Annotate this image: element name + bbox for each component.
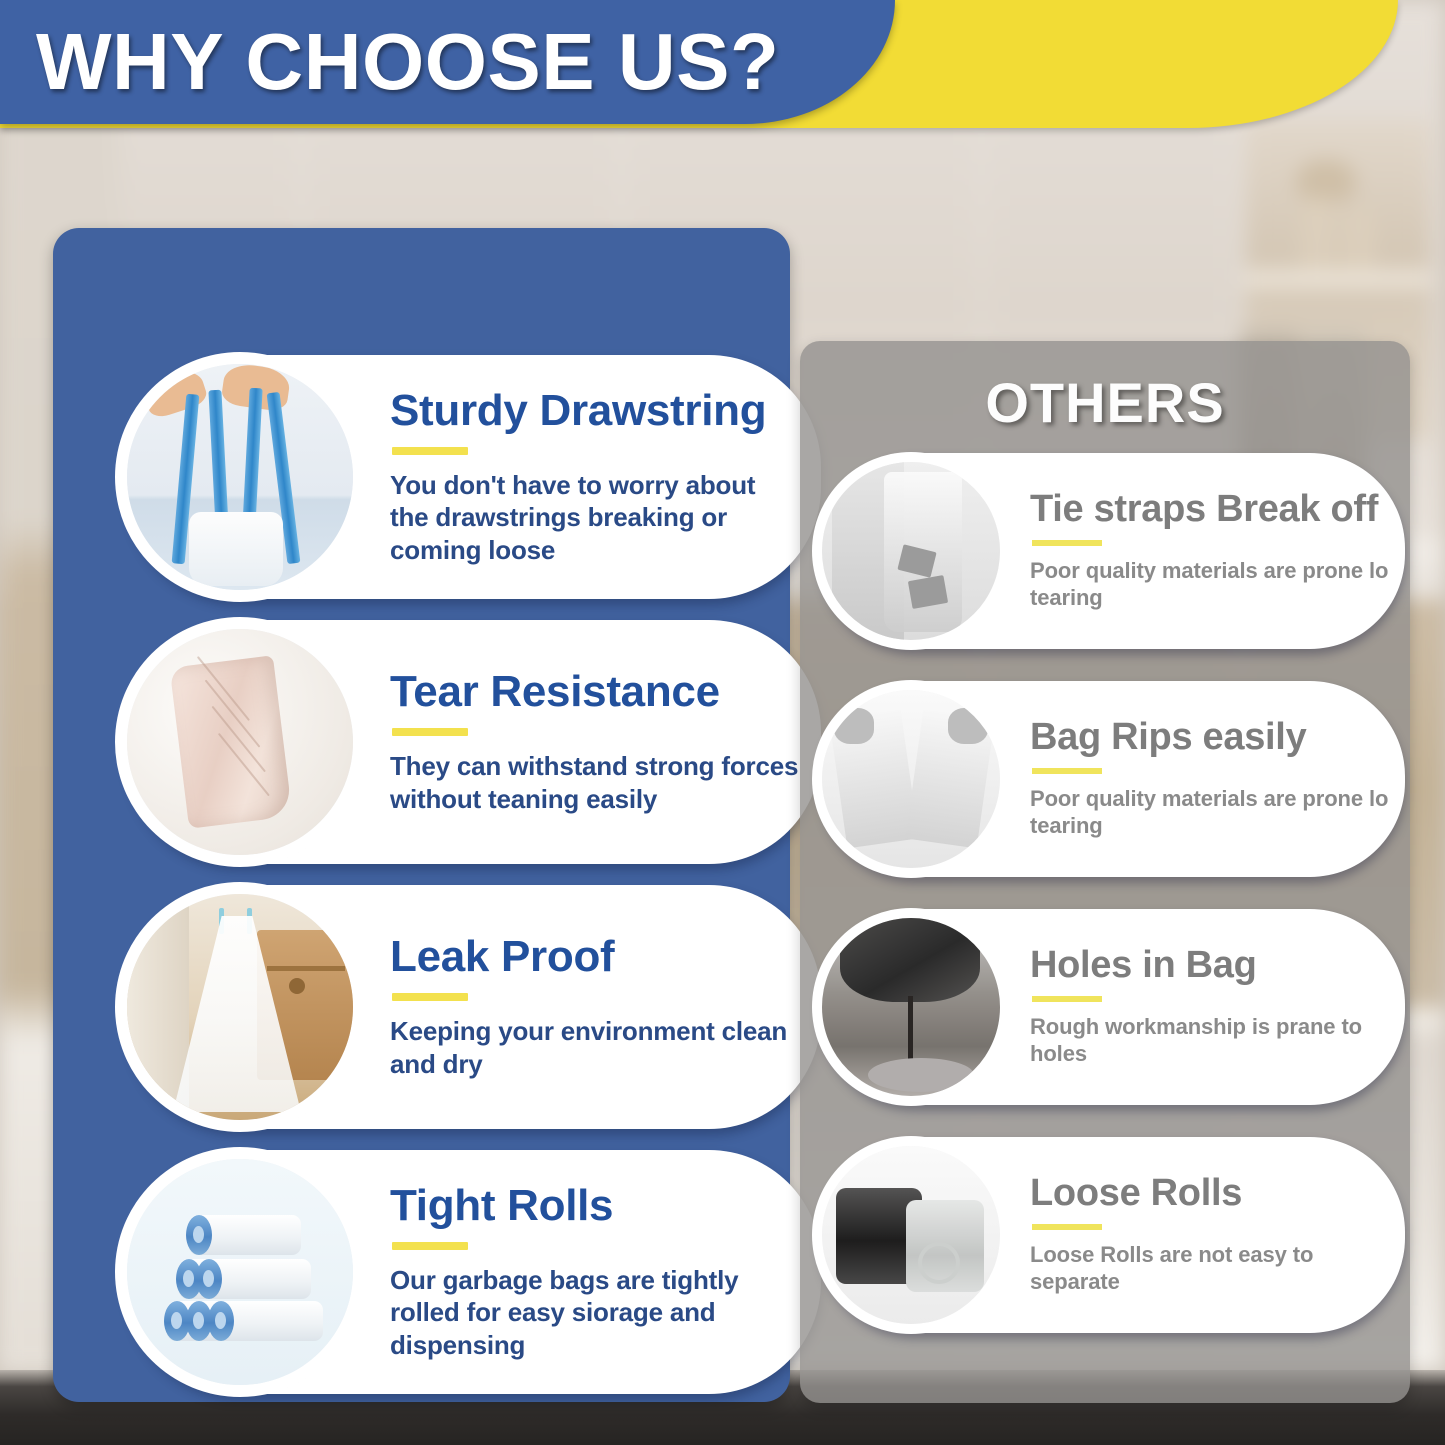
unrolled-loose-rolls-photo bbox=[822, 1146, 1000, 1324]
our-product-panel: T.FORING ® Sturdy Drawstring You don't h… bbox=[53, 228, 790, 1402]
drawback-title: Bag Rips easily bbox=[1030, 718, 1389, 758]
drawback-card[interactable]: Bag Rips easily Poor quality materials a… bbox=[820, 681, 1405, 877]
drawback-description: Poor quality materials are prone lo tear… bbox=[1030, 557, 1389, 613]
stretched-plastic-film-photo bbox=[127, 629, 353, 855]
others-panel: OTHERS Tie straps Break off Poor quality… bbox=[800, 341, 1410, 1403]
feature-title: Sturdy Drawstring bbox=[390, 388, 799, 434]
drawback-card[interactable]: Tie straps Break off Poor quality materi… bbox=[820, 453, 1405, 649]
drawback-card[interactable]: Loose Rolls Loose Rolls are not easy to … bbox=[820, 1137, 1405, 1333]
drawback-title: Loose Rolls bbox=[1030, 1174, 1389, 1214]
feature-title: Tear Resistance bbox=[390, 669, 799, 715]
hands-ripping-bag-photo bbox=[822, 690, 1000, 868]
person-carrying-torn-bag-photo bbox=[822, 462, 1000, 640]
leaking-black-bag-photo bbox=[822, 918, 1000, 1096]
hanging-white-bag-bedroom-photo bbox=[127, 894, 353, 1120]
page-title: WHY CHOOSE US? bbox=[36, 22, 779, 102]
feature-title: Leak Proof bbox=[390, 934, 799, 980]
drawback-description: Rough workmanship is prane to holes bbox=[1030, 1013, 1389, 1069]
drawback-description: Loose Rolls are not easy to separate bbox=[1030, 1241, 1389, 1297]
title-underline bbox=[392, 447, 468, 455]
drawback-title: Holes in Bag bbox=[1030, 946, 1389, 986]
feature-card[interactable]: Sturdy Drawstring You don't have to worr… bbox=[128, 355, 821, 599]
title-underline bbox=[1032, 996, 1102, 1002]
drawback-description: Poor quality materials are prone lo tear… bbox=[1030, 785, 1389, 841]
others-panel-title: OTHERS bbox=[800, 370, 1410, 435]
title-underline bbox=[392, 993, 468, 1001]
feature-card[interactable]: Tear Resistance They can withstand stron… bbox=[128, 620, 821, 864]
feature-description: Our garbage bags are tightly rolled for … bbox=[390, 1264, 799, 1362]
drawback-card[interactable]: Holes in Bag Rough workmanship is prane … bbox=[820, 909, 1405, 1105]
title-underline bbox=[1032, 768, 1102, 774]
stacked-blue-white-rolls-photo bbox=[127, 1159, 353, 1385]
drawback-title: Tie straps Break off bbox=[1030, 490, 1389, 530]
title-underline bbox=[1032, 1224, 1102, 1230]
feature-card[interactable]: Tight Rolls Our garbage bags are tightly… bbox=[128, 1150, 821, 1394]
feature-description: They can withstand strong forces without… bbox=[390, 750, 799, 815]
feature-description: You don't have to worry about the drawst… bbox=[390, 469, 799, 567]
title-underline bbox=[1032, 540, 1102, 546]
title-underline bbox=[392, 1242, 468, 1250]
feature-description: Keeping your environment clean and dry bbox=[390, 1015, 799, 1080]
hands-pulling-blue-drawstring-photo bbox=[127, 364, 353, 590]
feature-title: Tight Rolls bbox=[390, 1183, 799, 1229]
header-banner-blue: WHY CHOOSE US? bbox=[0, 0, 895, 124]
title-underline bbox=[392, 728, 468, 736]
feature-card[interactable]: Leak Proof Keeping your environment clea… bbox=[128, 885, 821, 1129]
